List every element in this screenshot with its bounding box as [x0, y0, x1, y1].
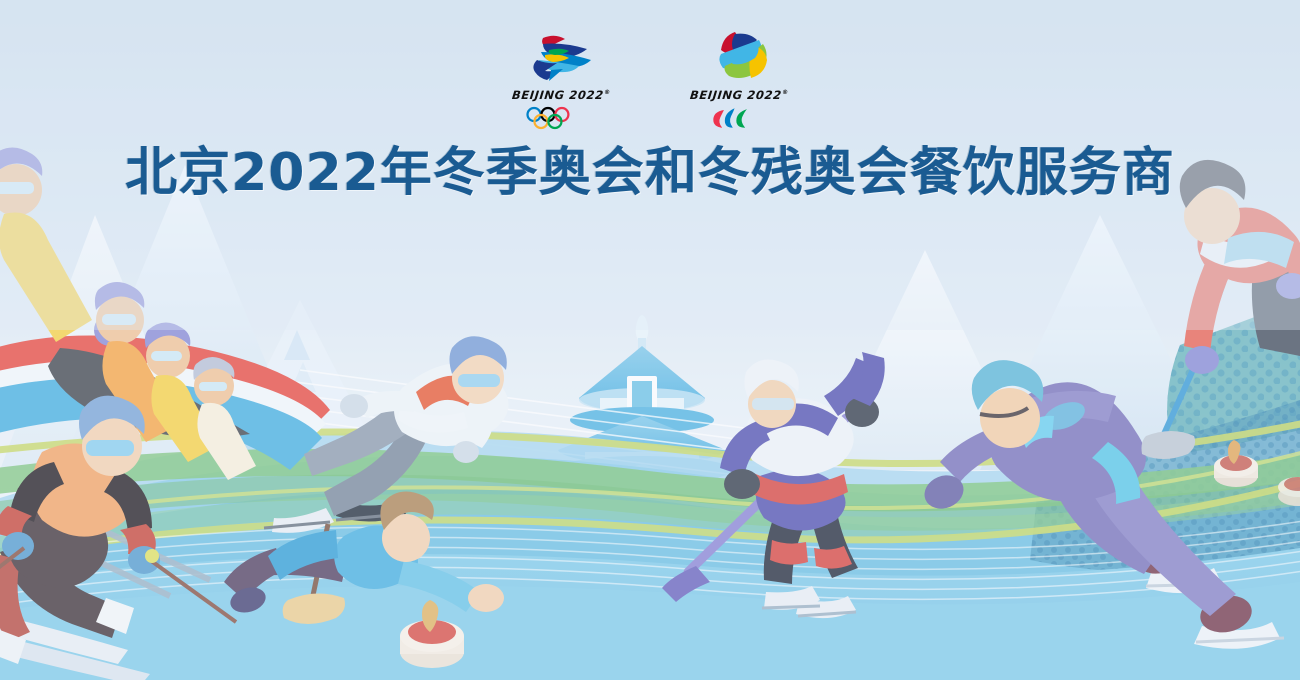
page-title: 北京2022年冬季奥会和冬残奥会餐饮服务商 [125, 143, 1175, 203]
olympic-logo: BEIJING 2022® [501, 30, 621, 130]
paralympic-logo: BEIJING 2022® [679, 30, 799, 130]
olympic-rings [521, 106, 601, 130]
olympic-wordmark: BEIJING 2022® [511, 88, 611, 102]
paralympic-agitos [708, 106, 770, 130]
emblem-row: BEIJING 2022® [0, 30, 1300, 140]
beijing-2022-paralympic-emblem [691, 30, 787, 86]
beijing-2022-olympic-emblem [513, 30, 609, 86]
banner-title-wrap: 北京2022年冬季奥会和冬残奥会餐饮服务商 [0, 143, 1300, 203]
paralympic-wordmark: BEIJING 2022® [689, 88, 789, 102]
olympics-catering-banner: BEIJING 2022® [0, 0, 1300, 680]
